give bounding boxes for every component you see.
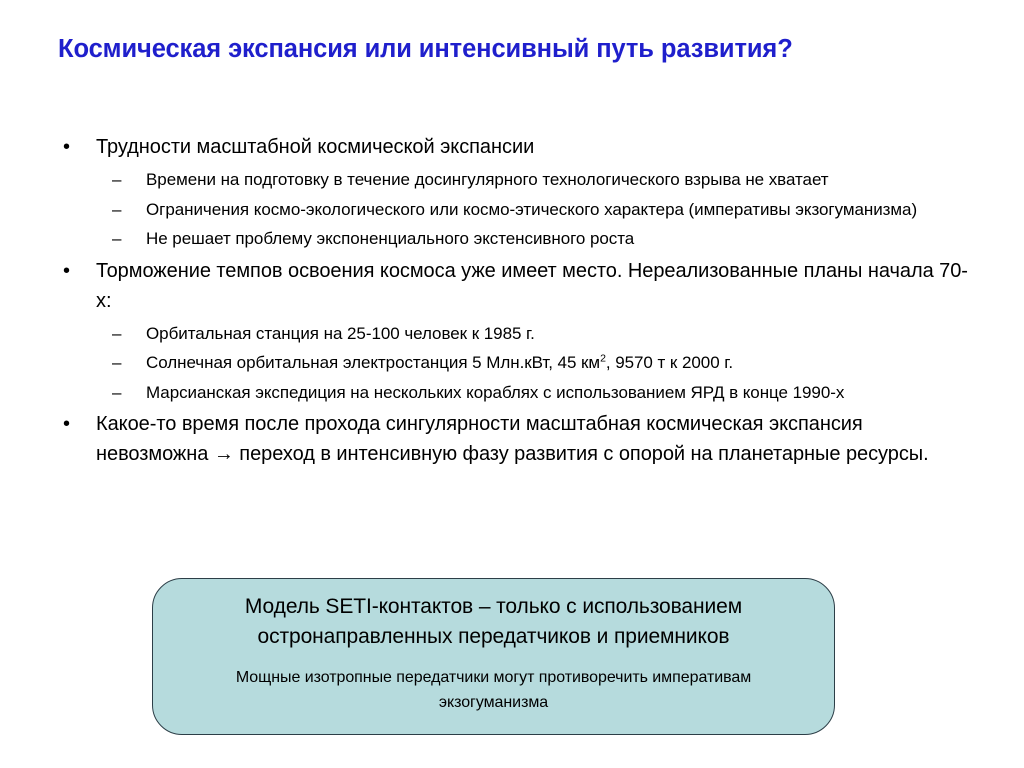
dash-marker-icon: – <box>110 224 146 254</box>
list-item: – Орбитальная станция на 25-100 человек … <box>110 319 970 349</box>
callout-title: Модель SETI-контактов – только с использ… <box>174 592 814 652</box>
bullet-list: • Трудности масштабной космической экспа… <box>60 132 970 469</box>
page-title: Космическая экспансия или интенсивный пу… <box>58 35 968 64</box>
bullet-marker-icon: • <box>60 409 96 439</box>
list-item: • Торможение темпов освоения космоса уже… <box>60 256 970 316</box>
dash-marker-icon: – <box>110 195 146 225</box>
list-item-text: Какое-то время после прохода сингулярнос… <box>96 409 970 469</box>
list-item: • Какое-то время после прохода сингулярн… <box>60 409 970 469</box>
dash-marker-icon: – <box>110 348 146 378</box>
dash-marker-icon: – <box>110 319 146 349</box>
list-item: – Времени на подготовку в течение досинг… <box>110 165 970 195</box>
callout-box: Модель SETI-контактов – только с использ… <box>152 578 835 735</box>
list-item: – Солнечная орбитальная электростанция 5… <box>110 348 970 378</box>
list-item-text: Марсианская экспедиция на нескольких кор… <box>146 378 970 408</box>
dash-marker-icon: – <box>110 378 146 408</box>
list-item-text: Орбитальная станция на 25-100 человек к … <box>146 319 970 349</box>
list-item: • Трудности масштабной космической экспа… <box>60 132 970 162</box>
list-item: – Марсианская экспедиция на нескольких к… <box>110 378 970 408</box>
text-segment: Солнечная орбитальная электростанция 5 М… <box>146 353 600 372</box>
text-segment: , 9570 т к 2000 г. <box>606 353 733 372</box>
bullet-marker-icon: • <box>60 256 96 286</box>
list-item: – Не решает проблему экспоненциального э… <box>110 224 970 254</box>
list-item-text: Ограничения космо-экологического или кос… <box>146 195 970 225</box>
list-item-text: Не решает проблему экспоненциального экс… <box>146 224 970 254</box>
slide-canvas: Космическая экспансия или интенсивный пу… <box>0 0 1024 768</box>
list-item-text: Времени на подготовку в течение досингул… <box>146 165 970 195</box>
list-item: – Ограничения космо-экологического или к… <box>110 195 970 225</box>
list-item-text: Трудности масштабной космической экспанс… <box>96 132 970 162</box>
list-item-text: Торможение темпов освоения космоса уже и… <box>96 256 970 316</box>
bullet-marker-icon: • <box>60 132 96 162</box>
callout-subtitle: Мощные изотропные передатчики могут прот… <box>194 665 794 715</box>
dash-marker-icon: – <box>110 165 146 195</box>
list-item-text: Солнечная орбитальная электростанция 5 М… <box>146 348 970 378</box>
